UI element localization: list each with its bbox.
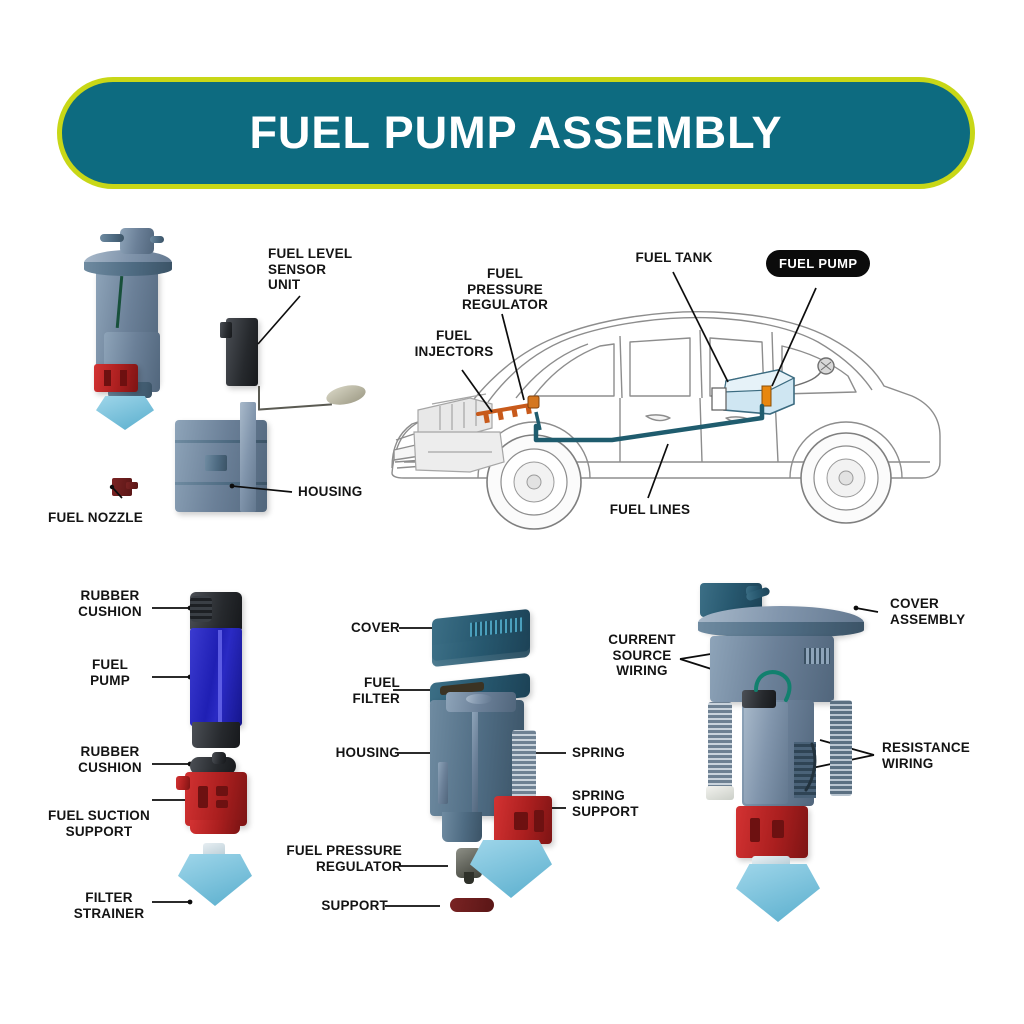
spring-support-slot <box>534 810 544 832</box>
support-part <box>450 898 494 912</box>
label-filter-strainer: FILTER STRAINER <box>62 890 156 921</box>
pump-module-inlet-nipple <box>100 234 124 242</box>
label-fuel-injectors: FUEL INJECTORS <box>404 328 504 359</box>
fuel-rail <box>478 404 536 414</box>
label-resistance-wiring: RESISTANCE WIRING <box>882 740 992 771</box>
rubber-cushion-top-ribs <box>190 596 212 622</box>
fuel-lines-path <box>536 406 762 440</box>
fuel-nozzle-neck <box>126 482 138 489</box>
resistance-spring-left-collar <box>706 786 734 800</box>
label-support: SUPPORT <box>300 898 388 914</box>
fuel-tank <box>712 370 794 414</box>
label-fuel-pressure-regulator-bm: FUEL PRESSURE REGULATOR <box>276 843 402 874</box>
housing-side-slot <box>438 762 448 804</box>
page-title: FUEL PUMP ASSEMBLY <box>249 107 782 159</box>
module-strainer <box>736 864 820 922</box>
front-wheel <box>487 435 581 529</box>
module-upper-vents <box>804 648 830 664</box>
pump-module-red-clip <box>94 364 138 392</box>
fuel-pump-bottom-cap <box>192 722 240 748</box>
label-fuel-tank: FUEL TANK <box>622 250 726 266</box>
fuel-level-sensor-tab <box>220 322 232 338</box>
label-fuel-suction-support: FUEL SUCTION SUPPORT <box>42 808 156 839</box>
housing-lower-spout <box>442 812 482 842</box>
pump-module-red-clip-slot <box>104 370 111 386</box>
spring-support-window <box>514 812 528 830</box>
label-fuel-lines: FUEL LINES <box>598 502 702 518</box>
label-fuel-pump-bl: FUEL PUMP <box>64 657 156 688</box>
module-red-support-slot-2 <box>772 820 784 838</box>
label-housing-bm: HOUSING <box>306 745 400 761</box>
fuel-suction-support-window-3 <box>216 800 228 808</box>
rubber-cushion-bottom-tab <box>212 752 226 764</box>
fuel-pump-barrel <box>190 628 242 726</box>
label-housing-top: HOUSING <box>298 484 398 500</box>
badge-fuel-pump: FUEL PUMP <box>766 250 870 277</box>
current-source-connector <box>742 690 776 708</box>
label-fuel-level-sensor-unit: FUEL LEVEL SENSOR UNIT <box>268 246 378 293</box>
module-mid-ribs <box>794 742 816 798</box>
label-fuel-filter: FUEL FILTER <box>322 675 400 706</box>
housing-cap-detail <box>466 694 492 704</box>
fuel-suction-support-window-1 <box>198 786 208 808</box>
fuel-pump-barrel-highlight <box>218 630 222 724</box>
label-spring-support: SPRING SUPPORT <box>572 788 668 819</box>
housing-strainer <box>470 840 552 898</box>
label-fuel-nozzle: FUEL NOZZLE <box>48 510 178 526</box>
fuel-suction-support-window-2 <box>216 786 228 796</box>
header-banner: FUEL PUMP ASSEMBLY <box>57 77 975 189</box>
fuel-injectors-art <box>483 405 531 424</box>
label-spring: SPRING <box>572 745 662 761</box>
label-current-source-wiring: CURRENT SOURCE WIRING <box>600 632 684 679</box>
pump-module-strainer <box>96 396 154 430</box>
fuel-pressure-regulator-art <box>528 396 539 408</box>
fuel-rail-return <box>536 412 540 430</box>
fuel-suction-support-foot <box>190 820 240 834</box>
pump-module-flange-rim <box>84 262 172 276</box>
fuel-filler <box>794 358 834 386</box>
label-cover-assembly: COVER ASSEMBLY <box>890 596 982 627</box>
sensor-float-arm-horizontal <box>258 403 332 410</box>
fuel-suction-support-nipple <box>176 776 190 790</box>
label-cover: COVER <box>314 620 400 636</box>
pump-module-outlet-nipple <box>150 236 164 243</box>
filter-strainer-part <box>178 854 252 906</box>
pump-module-top-fitting <box>120 228 154 254</box>
resistance-spring-left <box>708 702 732 790</box>
resistance-spring-right <box>830 700 852 796</box>
label-rubber-cushion-bottom: RUBBER CUSHION <box>64 744 156 775</box>
in-tank-pump <box>762 386 771 406</box>
housing-rib <box>472 712 478 816</box>
pump-module-red-clip-slot-2 <box>120 370 127 386</box>
housing-block-column <box>240 402 256 512</box>
rear-wheel <box>801 433 891 523</box>
label-rubber-cushion-top: RUBBER CUSHION <box>64 588 156 619</box>
module-red-support-slot-1 <box>750 818 760 842</box>
module-mid-highlight <box>744 702 788 804</box>
label-fuel-pressure-regulator-car: FUEL PRESSURE REGULATOR <box>450 266 560 313</box>
housing-block-port <box>205 455 227 471</box>
fuel-suction-support-part <box>185 772 247 826</box>
engine-block <box>414 394 504 472</box>
sensor-float-arm <box>258 386 260 410</box>
